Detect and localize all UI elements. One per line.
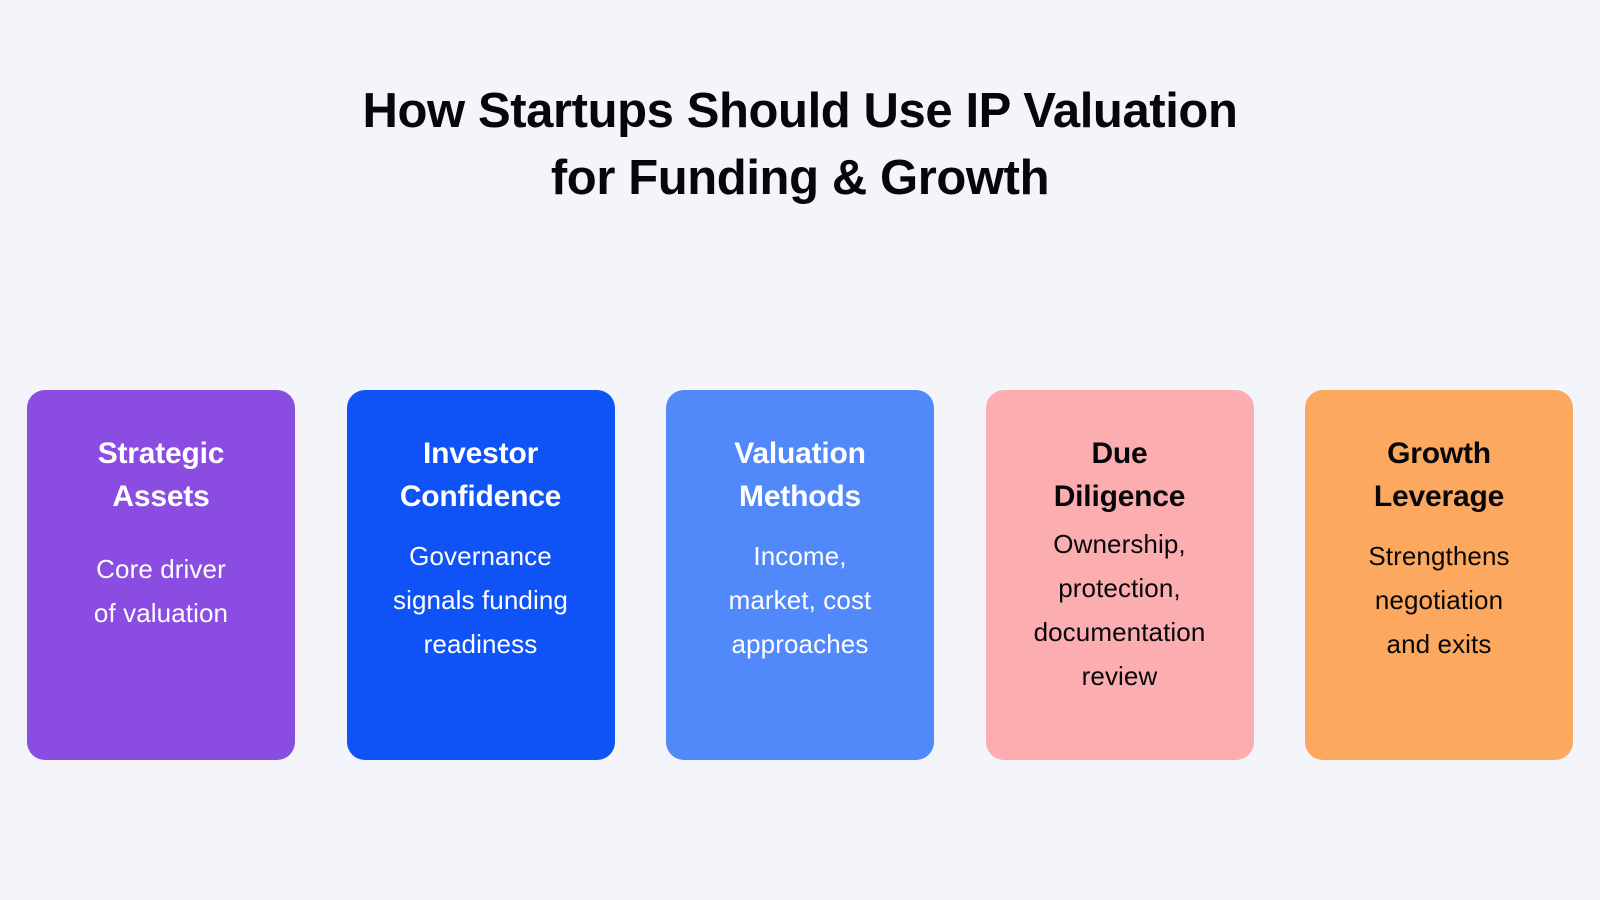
- card-valuation-methods[interactable]: Valuation Methods Income, market, cost a…: [666, 390, 934, 760]
- card-body-strategic-assets: Core driver of valuation: [94, 547, 228, 635]
- card-title-strategic-assets: Strategic Assets: [98, 432, 225, 518]
- card-body-growth-leverage: Strengthens negotiation and exits: [1368, 534, 1509, 666]
- card-due-diligence[interactable]: Due Diligence Ownership, protection, doc…: [986, 390, 1254, 760]
- card-body-investor-confidence: Governance signals funding readiness: [393, 534, 568, 666]
- card-investor-confidence[interactable]: Investor Confidence Governance signals f…: [347, 390, 615, 760]
- card-body-valuation-methods: Income, market, cost approaches: [729, 534, 872, 666]
- page-title-line-2: for Funding & Growth: [0, 145, 1600, 212]
- card-title-valuation-methods: Valuation Methods: [734, 432, 866, 518]
- infographic-canvas: How Startups Should Use IP Valuation for…: [0, 0, 1600, 900]
- page-title: How Startups Should Use IP Valuation for…: [0, 78, 1600, 212]
- card-body-due-diligence: Ownership, protection, documentation rev…: [1034, 522, 1206, 698]
- card-title-investor-confidence: Investor Confidence: [400, 432, 561, 518]
- page-title-line-1: How Startups Should Use IP Valuation: [0, 78, 1600, 145]
- card-title-growth-leverage: Growth Leverage: [1374, 432, 1504, 518]
- cards-row: Strategic Assets Core driver of valuatio…: [27, 390, 1573, 760]
- card-growth-leverage[interactable]: Growth Leverage Strengthens negotiation …: [1305, 390, 1573, 760]
- card-title-due-diligence: Due Diligence: [1054, 432, 1186, 518]
- card-strategic-assets[interactable]: Strategic Assets Core driver of valuatio…: [27, 390, 295, 760]
